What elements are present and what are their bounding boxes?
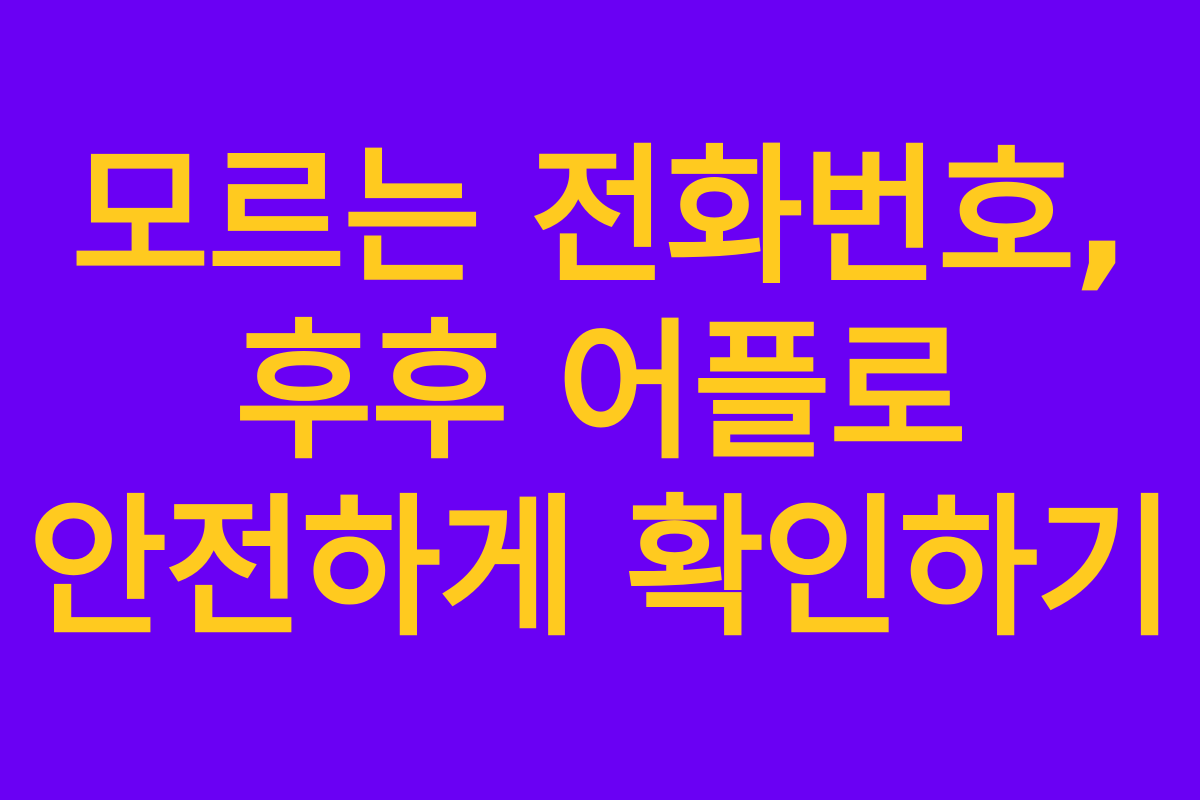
headline-block: 모르는 전화번호, 후후 어플로 안전하게 확인하기 — [0, 131, 1200, 656]
headline-line-3: 안전하게 확인하기 — [8, 481, 1192, 656]
banner-canvas: 모르는 전화번호, 후후 어플로 안전하게 확인하기 — [0, 0, 1200, 800]
headline-line-2: 후후 어플로 — [8, 306, 1192, 481]
headline-line-1: 모르는 전화번호, — [8, 131, 1192, 306]
